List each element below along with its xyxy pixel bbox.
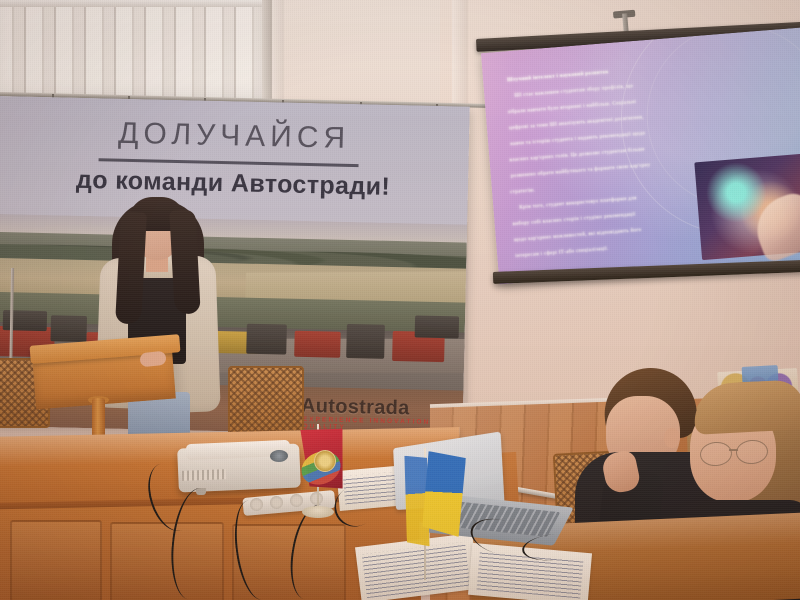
window-frame bbox=[262, 0, 272, 104]
slide-line: щодо кар'єрних можливостей, які відповід… bbox=[514, 227, 642, 243]
photo-scene: ДОЛУЧАЙСЯ до команди Автостради! A bbox=[0, 0, 800, 600]
flag-crest-emblem-icon bbox=[314, 450, 336, 472]
ukraine-flag bbox=[422, 451, 466, 537]
projector-vent bbox=[182, 469, 226, 481]
slide-line: ШІ стає важливим студентам збору профілі… bbox=[514, 83, 633, 99]
slide-line: розвинено обрати майбутнього та формати … bbox=[511, 162, 651, 179]
slide-heading: Штучний інтелект і науковий розвиток bbox=[507, 69, 609, 83]
eyeglasses-bridge-icon bbox=[729, 449, 738, 451]
desk-panel bbox=[10, 520, 102, 600]
banner-machinery bbox=[246, 324, 287, 355]
slide-line: власних кар'єрних голів. Це дозволяє сту… bbox=[509, 146, 645, 163]
presenter-hair-strand-right bbox=[169, 209, 200, 314]
banner-machinery bbox=[50, 315, 87, 342]
projection-screen: Штучний інтелект і науковий розвиток ШІ … bbox=[470, 0, 800, 317]
window-blinds bbox=[0, 0, 264, 102]
banner-machinery bbox=[294, 331, 341, 358]
flag-stand-base bbox=[302, 506, 334, 518]
window-blinds-rail bbox=[0, 0, 264, 7]
slide-line: інтересам і сфері ІТ-або спеціалізації. bbox=[515, 246, 609, 259]
slide-line: стратегію. bbox=[510, 187, 536, 195]
slide-line: зібрали навчати було вторинні і найбільш… bbox=[507, 99, 636, 115]
slide-line: вибору собі власних сторін і студіює рек… bbox=[512, 211, 635, 227]
student-male-ear bbox=[664, 428, 680, 448]
slide-line: Крім того, студент використовує платформ… bbox=[519, 195, 637, 210]
slide-canvas: Штучний інтелект і науковий розвиток ШІ … bbox=[481, 27, 800, 284]
banner-machinery bbox=[346, 324, 385, 359]
banner-machinery bbox=[415, 315, 459, 338]
